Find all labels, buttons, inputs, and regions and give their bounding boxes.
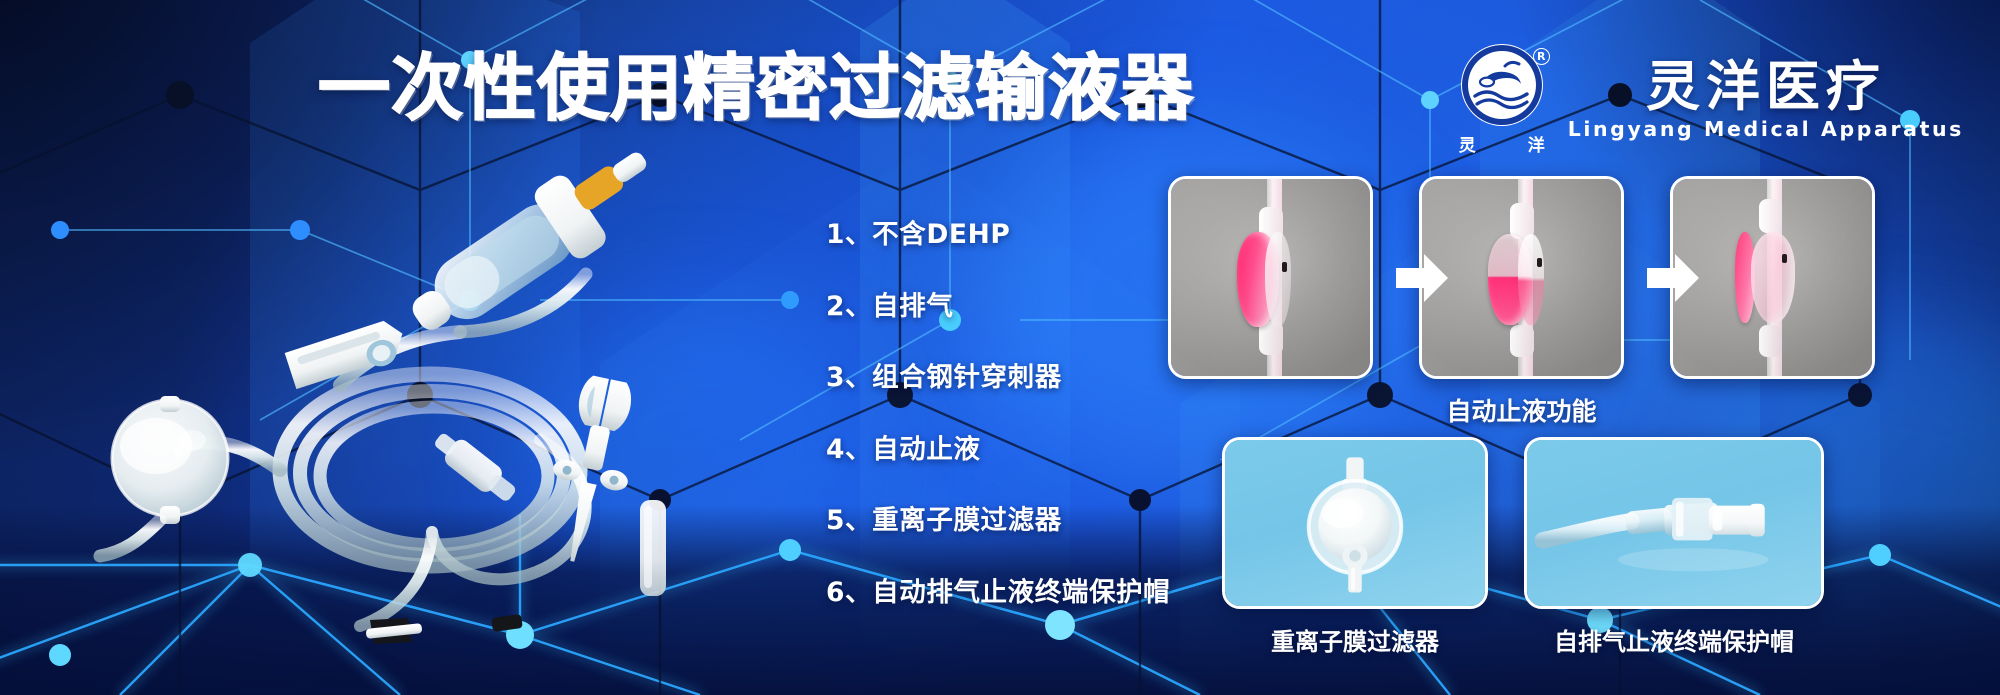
stop-valve-chamber-empty [1735,232,1755,323]
chamber-shell [1518,234,1544,325]
feature-item: 6、自动排气止液终端保护帽 [826,580,1170,607]
page-title: 一次性使用精密过滤输液器 [318,52,1194,124]
label-clip-part [366,618,423,644]
feature-item: 4、自动止液 [826,437,1170,464]
arrow-right-icon-1 [1394,252,1450,304]
feature-item: 5、重离子膜过滤器 [826,508,1170,535]
chamber-marking [1282,262,1287,272]
arrow-right-icon-2 [1645,252,1701,304]
photo-terminal-protective-cap [1524,437,1824,609]
label-clip-part-2 [491,614,523,632]
logo-emblem-char-right: 洋 [1528,131,1545,156]
photo-heavy-ion-filter [1222,437,1488,609]
caption-heavy-ion-filter: 重离子膜过滤器 [1222,622,1488,657]
logo-english-name: Lingyang Medical Apparatus [1568,117,1964,141]
tube-connector [1510,325,1534,357]
feature-item: 1、不含DEHP [826,222,1170,249]
product-banner: 一次性使用精密过滤输液器 R 灵 洋 灵洋医疗 [0,0,2000,695]
chamber-marking [1537,258,1542,267]
tube-connector [1259,321,1283,355]
feature-item: 3、组合钢针穿刺器 [826,365,1170,392]
feature-item: 2、自排气 [826,294,1170,321]
logo-wave-icon [1461,44,1543,126]
drip-chamber-part [394,140,671,355]
round-filter-part [100,396,228,556]
caption-auto-stop: 自动止液功能 [1168,392,1875,428]
brand-logo[interactable]: R 灵 洋 灵洋医疗 Lingyang Medical Apparatus [1456,44,1964,156]
logo-chinese-name: 灵洋医疗 [1646,59,1886,115]
feature-list: 1、不含DEHP 2、自排气 3、组合钢针穿刺器 4、自动止液 5、重离子膜过滤… [826,222,1170,606]
registered-trademark-icon: R [1533,48,1550,65]
logo-emblem-subtext: 灵 洋 [1456,131,1548,156]
y-connector-part [429,426,522,508]
tube-connector [1259,207,1283,241]
logo-emblem-char-left: 灵 [1459,131,1476,156]
tube-connector [1759,199,1782,233]
chamber-shell [1265,232,1291,327]
spike-protector-cap-part [640,500,666,596]
logo-emblem: R 灵 洋 [1456,44,1548,156]
iv-tube [1267,176,1282,379]
photo-auto-stop-1 [1168,176,1373,379]
logo-text-block: 灵洋医疗 Lingyang Medical Apparatus [1568,59,1964,141]
iv-tube [1767,176,1782,379]
stop-valve-chamber-full [1237,232,1279,327]
chamber-marking [1782,254,1787,263]
tube-connector [1510,203,1534,239]
stop-valve-chamber-half [1488,234,1532,325]
chamber-shell [1751,232,1795,323]
caption-terminal-cap: 自排气止液终端保护帽 [1524,622,1824,657]
main-product-image [40,140,830,670]
iv-tube [1518,176,1533,379]
tube-connector [1759,325,1782,357]
